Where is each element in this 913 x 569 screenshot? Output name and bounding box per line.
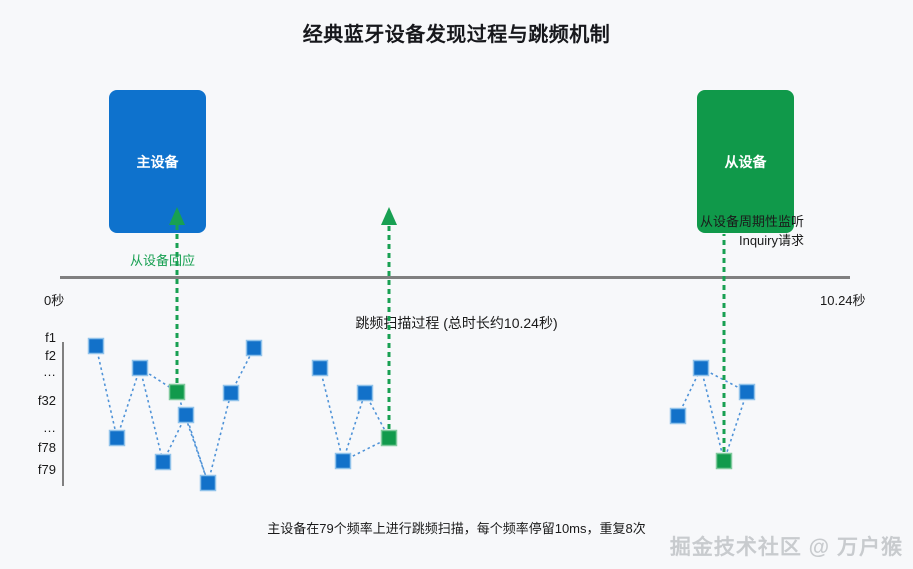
slave-response-label: 从设备回应 (130, 250, 195, 269)
freq-tick-f79: f79 (12, 462, 56, 477)
freq-tick-dots-1: … (12, 364, 56, 379)
freq-tick-dots-2: … (12, 420, 56, 435)
slave-listen-label: 从设备周期性监听 Inquiry请求 (700, 212, 804, 250)
slave-listen-label-line2: Inquiry请求 (700, 231, 804, 250)
timeline-axis (60, 276, 850, 279)
slave-device-label: 从设备 (725, 152, 767, 172)
slave-listen-label-line1: 从设备周期性监听 (700, 212, 804, 231)
diagram-canvas: 经典蓝牙设备发现过程与跳频机制 主设备 从设备 0秒 10.24秒 跳频扫描过程… (0, 0, 913, 569)
timeline-end-label: 10.24秒 (820, 290, 866, 309)
master-device-box[interactable]: 主设备 (109, 90, 206, 233)
hop-scan-caption: 跳频扫描过程 (总时长约10.24秒) (0, 313, 913, 333)
freq-tick-f32: f32 (12, 393, 56, 408)
freq-tick-f78: f78 (12, 440, 56, 455)
scatter-connector-lines (96, 346, 747, 483)
scatter-markers (89, 339, 755, 491)
freq-tick-f1: f1 (12, 330, 56, 345)
callout-lines (169, 207, 724, 461)
watermark: 掘金技术社区 @ 万户猴 (670, 531, 903, 561)
page-title: 经典蓝牙设备发现过程与跳频机制 (0, 18, 913, 47)
frequency-axis-line (62, 342, 64, 486)
timeline-start-label: 0秒 (44, 290, 64, 309)
hop-scatter-plot (0, 0, 913, 569)
master-device-label: 主设备 (137, 152, 179, 172)
freq-tick-f2: f2 (12, 348, 56, 363)
